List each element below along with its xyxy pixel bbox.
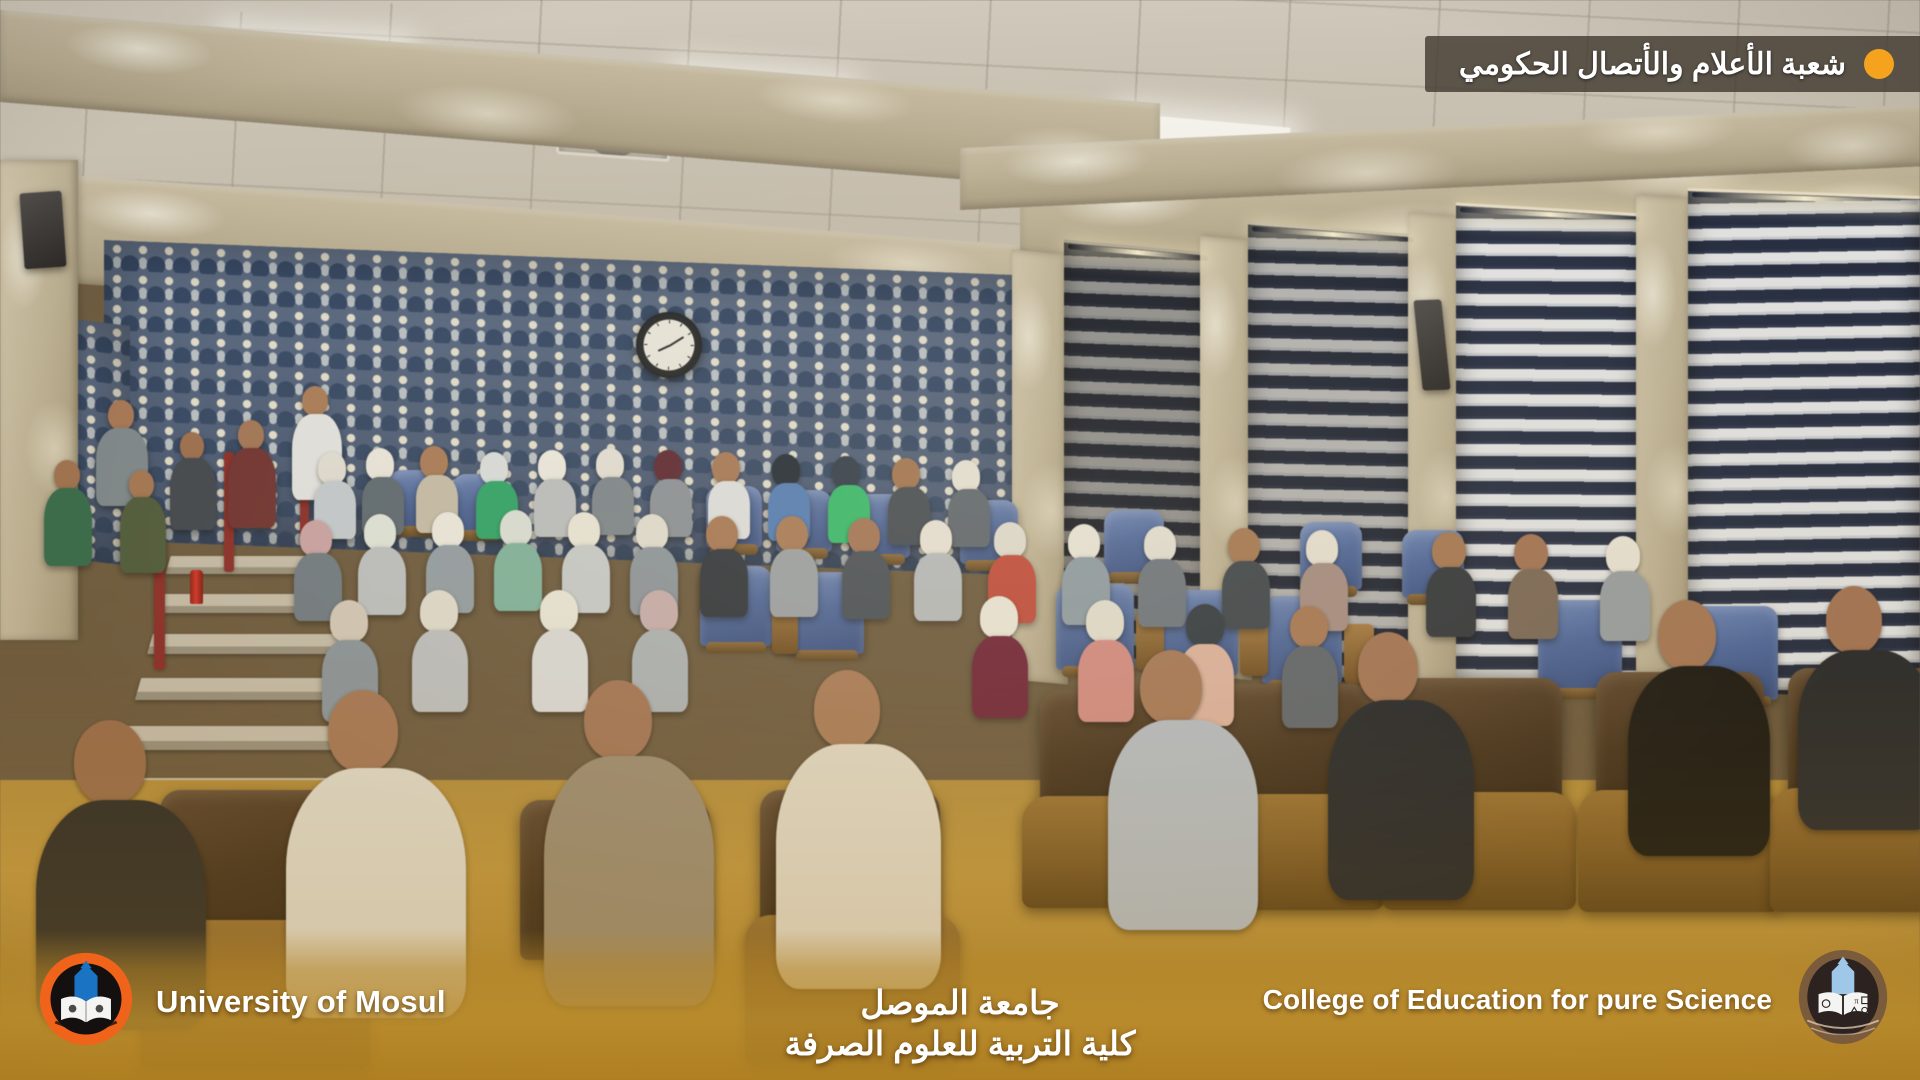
svg-text:π: π — [1854, 996, 1859, 1006]
person-head — [420, 446, 448, 478]
person-torso — [948, 489, 990, 547]
person-torso — [1078, 640, 1134, 722]
wall-speaker-icon — [19, 191, 66, 270]
person-head — [74, 720, 146, 804]
person-torso — [120, 497, 166, 573]
auditorium-photograph — [0, 0, 1920, 1080]
person-head — [1432, 532, 1466, 570]
person-head — [1358, 632, 1418, 704]
person-head — [238, 420, 264, 450]
person-torso — [842, 551, 890, 619]
person-torso — [1222, 561, 1270, 629]
person-head — [540, 590, 578, 632]
university-brand-center: جامعة الموصل كلية التربية للعلوم الصرفة — [785, 982, 1136, 1065]
person-torso — [1138, 559, 1186, 627]
person-torso — [1426, 567, 1476, 637]
person-head — [640, 590, 678, 632]
person-head — [584, 680, 652, 760]
person-head — [300, 520, 332, 556]
person-head — [772, 454, 800, 486]
person-head — [892, 458, 920, 490]
person-head — [1606, 536, 1640, 574]
person-torso — [532, 630, 588, 712]
college-brand-right: College of Education for pure Science π — [1263, 947, 1890, 1052]
person-head — [994, 522, 1026, 558]
person-head — [814, 670, 880, 748]
person-head — [1514, 534, 1548, 572]
media-department-label: شعبة الأعلام والأتصال الحكومي — [1459, 47, 1846, 82]
person-torso — [228, 448, 276, 528]
person-head — [636, 514, 668, 550]
person-head — [480, 452, 508, 484]
person-head — [1826, 586, 1882, 654]
person-head — [712, 452, 740, 484]
person-head — [1140, 650, 1202, 724]
person-torso — [358, 547, 406, 615]
person-head — [832, 456, 860, 488]
person-head — [1068, 524, 1100, 560]
person-head — [980, 596, 1018, 638]
fire-extinguisher-icon — [190, 570, 203, 604]
person-torso — [494, 543, 542, 611]
person-head — [500, 510, 532, 546]
stair-step — [121, 726, 356, 750]
person-torso — [700, 549, 748, 617]
person-torso — [1108, 720, 1258, 930]
stair-step — [135, 678, 351, 700]
person-head — [129, 470, 154, 499]
person-torso — [44, 488, 92, 566]
college-name-label: College of Education for pure Science — [1263, 984, 1772, 1016]
person-head — [432, 512, 464, 548]
college-name-arabic: كلية التربية للعلوم الصرفة — [785, 1023, 1136, 1064]
person-head — [654, 450, 682, 482]
person-torso — [1600, 571, 1650, 641]
college-of-education-for-pure-science-seal-icon: π — [1796, 947, 1890, 1052]
person-head — [1306, 530, 1338, 566]
orange-dot-icon — [1864, 49, 1894, 79]
person-head — [108, 400, 134, 430]
person-head — [318, 452, 346, 484]
media-department-banner: شعبة الأعلام والأتصال الحكومي — [1425, 36, 1920, 92]
person-head — [596, 448, 624, 480]
person-head — [1290, 606, 1328, 648]
university-brand-left: University of Mosul — [38, 951, 446, 1052]
person-head — [328, 690, 398, 772]
person-head — [1228, 528, 1260, 564]
university-name-label: University of Mosul — [156, 984, 446, 1020]
wall-clock — [636, 312, 702, 378]
person-head — [1658, 600, 1716, 670]
person-head — [330, 600, 368, 642]
person-head — [1086, 600, 1124, 642]
person-head — [180, 432, 204, 460]
stair-step — [147, 634, 345, 654]
person-head — [848, 518, 880, 554]
person-torso — [170, 458, 216, 530]
person-torso — [1628, 666, 1770, 856]
person-head — [920, 520, 952, 556]
person-head — [366, 448, 394, 480]
screenshot-root: شعبة الأعلام والأتصال الحكومي University… — [0, 0, 1920, 1080]
person-torso — [1282, 646, 1338, 728]
university-of-mosul-logo-icon — [38, 951, 134, 1052]
person-torso — [770, 549, 818, 617]
person-torso — [1328, 700, 1474, 900]
person-head — [1144, 526, 1176, 562]
person-torso — [914, 553, 962, 621]
clock-tick-marks — [644, 320, 694, 370]
person-torso — [972, 636, 1028, 718]
person-head — [302, 386, 328, 416]
person-torso — [412, 630, 468, 712]
person-head — [538, 450, 566, 482]
person-head — [568, 512, 600, 548]
person-head — [54, 460, 80, 490]
person-head — [420, 590, 458, 632]
person-head — [776, 516, 808, 552]
person-torso — [1508, 569, 1558, 639]
person-head — [364, 514, 396, 550]
university-name-arabic: جامعة الموصل — [785, 982, 1136, 1023]
person-head — [952, 460, 980, 492]
person-head — [706, 516, 738, 552]
person-torso — [1798, 650, 1920, 830]
person-head — [1186, 604, 1224, 646]
